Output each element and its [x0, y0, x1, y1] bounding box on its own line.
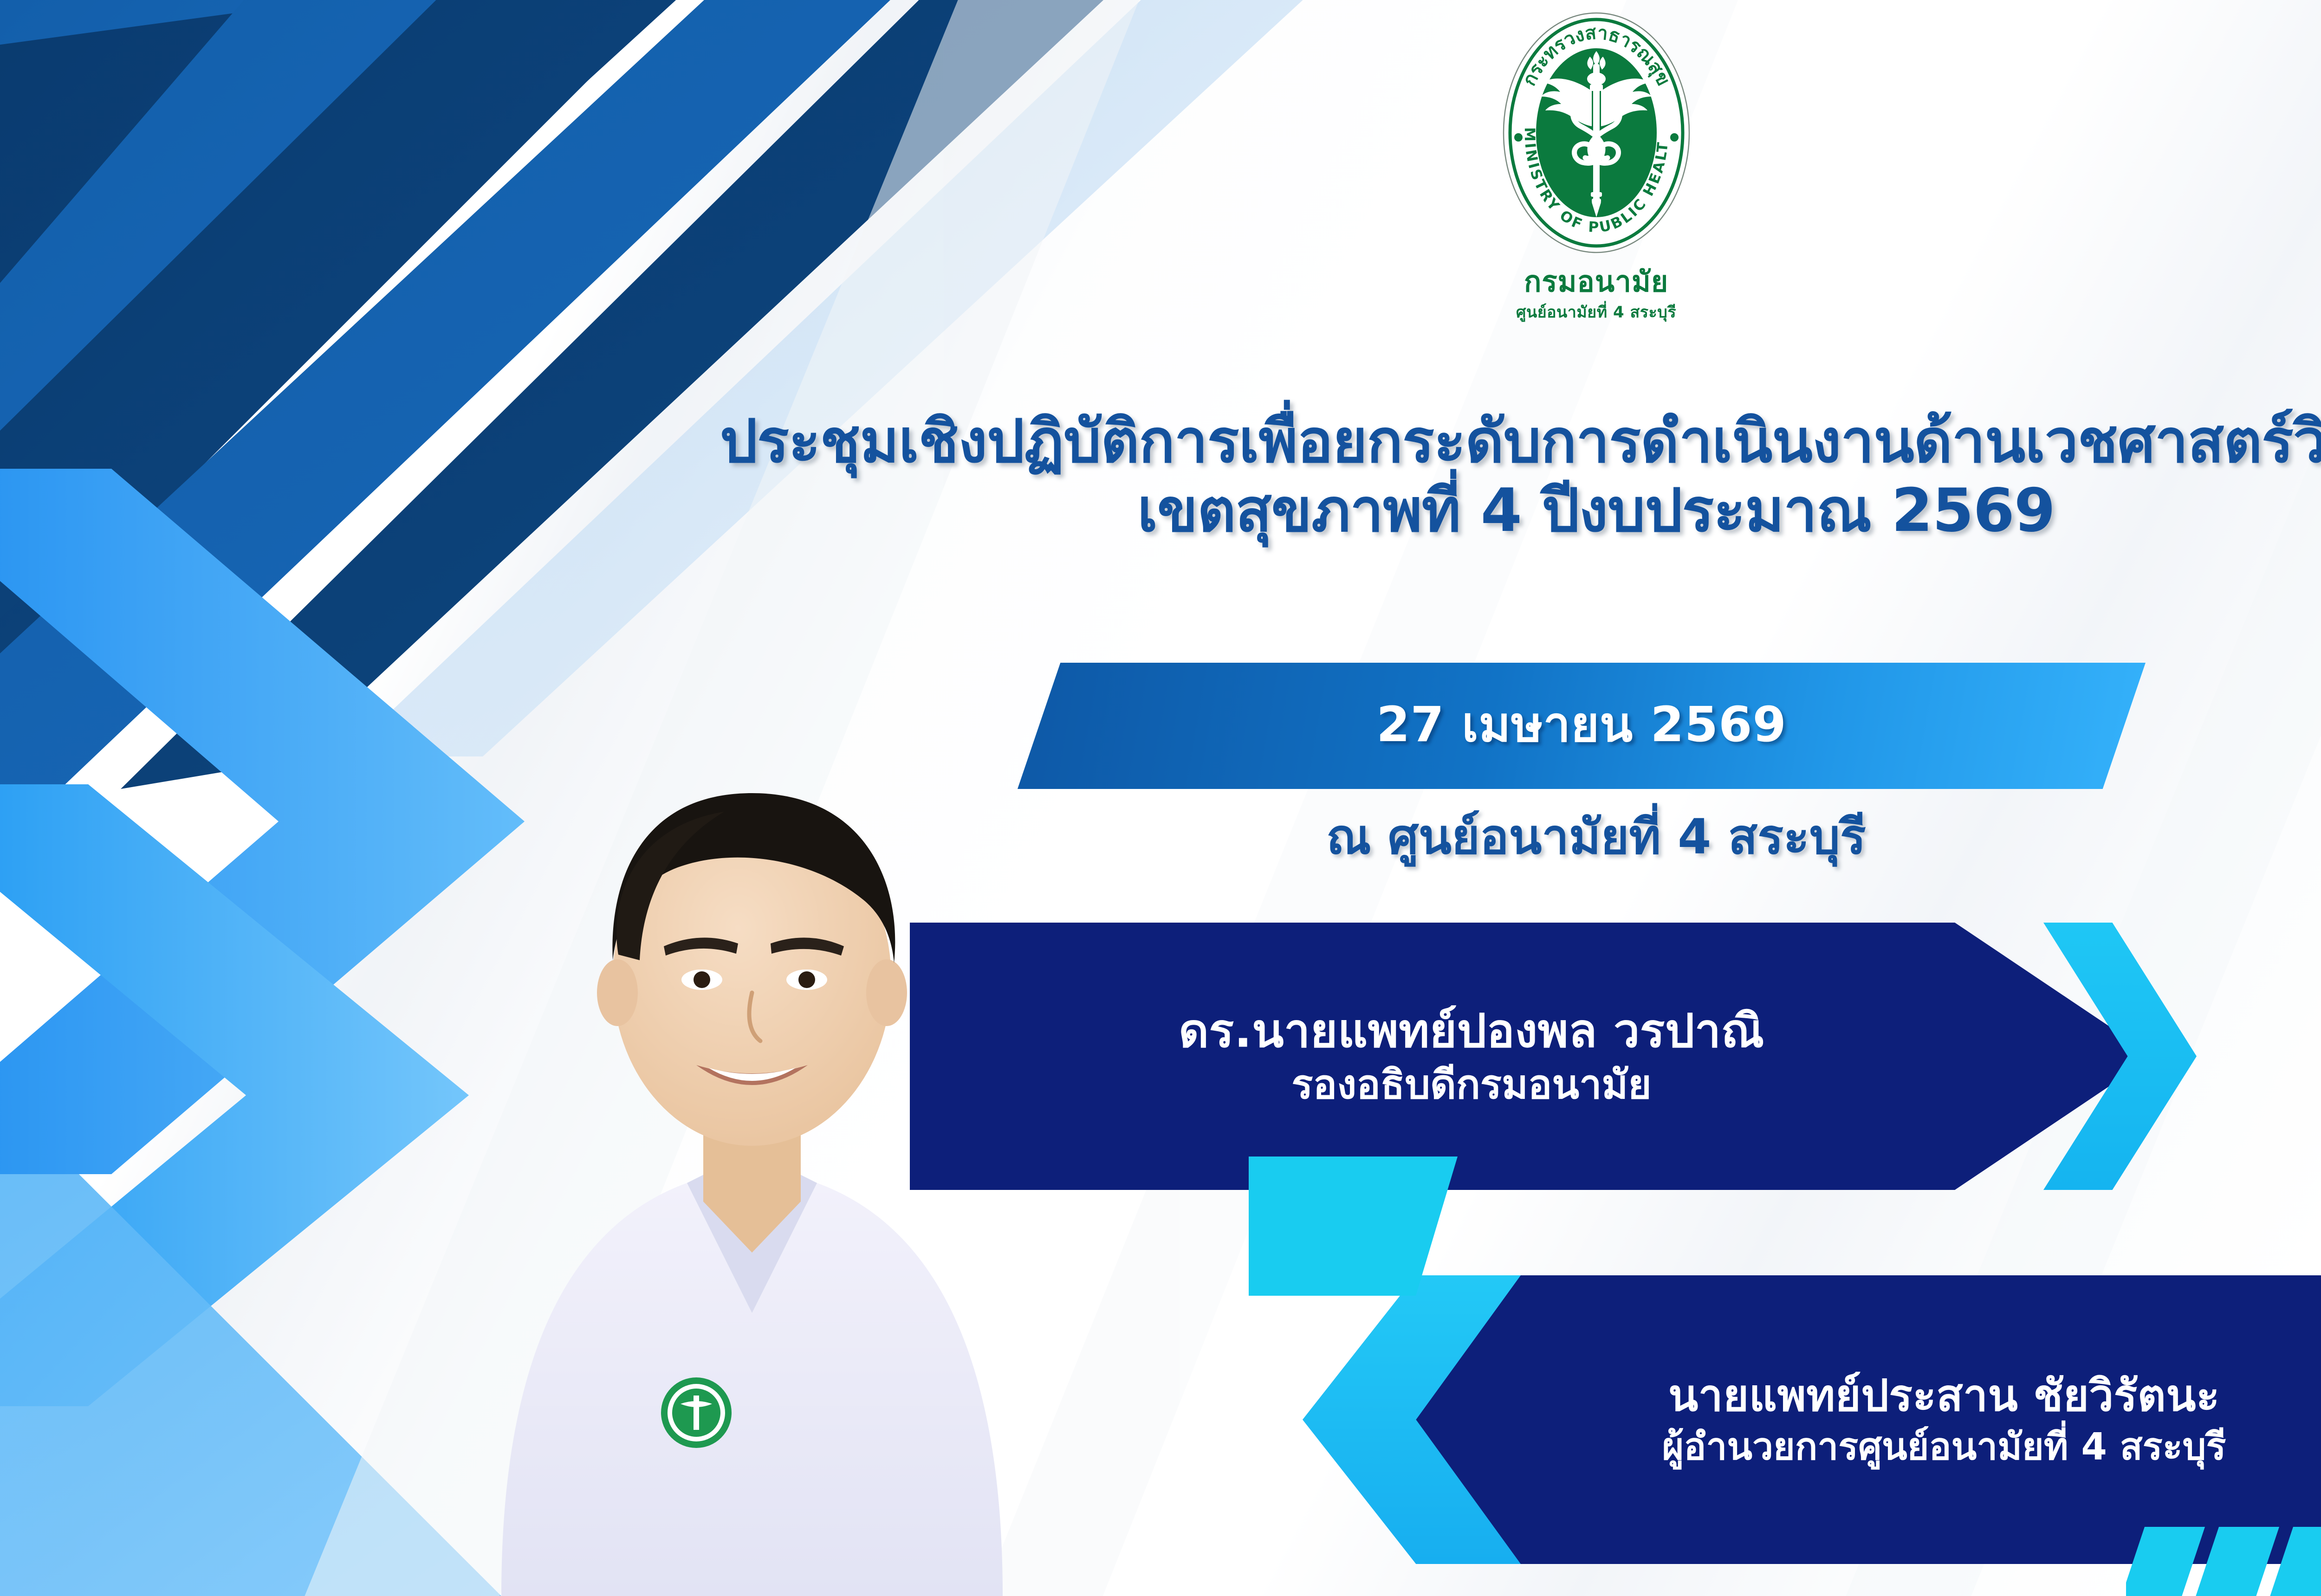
speaker-1-name: ดร.นายแพทย์ปองพล วรปาณิ: [910, 1004, 2033, 1058]
poster-canvas: กระทรวงสาธารณสุข MINISTRY OF PUBLIC HEAL…: [0, 0, 2321, 1596]
page-title: ประชุมเชิงปฏิบัติการเพื่อยกระดับการดำเนิ…: [0, 408, 2321, 475]
cyan-stripes-decor-lower: [2126, 1527, 2321, 1596]
ministry-of-public-health-seal-icon: กระทรวงสาธารณสุข MINISTRY OF PUBLIC HEAL…: [1499, 8, 1694, 268]
speaker-2-banner: นายแพทย์ประสาน ชัยวิรัตนะ ผู้อำนวยการศูน…: [1327, 1275, 2321, 1564]
cyan-stripes-decor-upper: [1249, 1157, 1666, 1296]
page-subtitle: เขตสุขภาพที่ 4 ปีงบประมาณ 2569: [0, 478, 2321, 544]
speaker-1-banner: ดร.นายแพทย์ปองพล วรปาณิ รองอธิบดีกรมอนาม…: [910, 923, 2154, 1190]
speaker-1-role: รองอธิบดีกรมอนามัย: [910, 1061, 2033, 1108]
logo-department-name: กรมอนามัย: [1420, 266, 1773, 297]
speaker-2-text: นายแพทย์ประสาน ชัยวิรัตนะ ผู้อำนวยการศูน…: [1480, 1370, 2321, 1468]
ministry-logo-block: กระทรวงสาธารณสุข MINISTRY OF PUBLIC HEAL…: [1420, 8, 1773, 324]
logo-center-name: ศูนย์อนามัยที่ 4 สระบุรี: [1420, 299, 1773, 324]
speaker-2-name: นายแพทย์ประสาน ชัยวิรัตนะ: [1480, 1370, 2321, 1421]
title-block: ประชุมเชิงปฏิบัติการเพื่อยกระดับการดำเนิ…: [0, 408, 2321, 544]
date-text: 27 เมษายน 2569: [1018, 686, 2146, 762]
speaker-2-role: ผู้อำนวยการศูนย์อนามัยที่ 4 สระบุรี: [1480, 1425, 2321, 1468]
venue-text: ณ ศูนย์อนามัยที่ 4 สระบุรี: [0, 798, 2321, 875]
speaker-1-text: ดร.นายแพทย์ปองพล วรปาณิ รองอธิบดีกรมอนาม…: [910, 1004, 2033, 1108]
date-banner: 27 เมษายน 2569: [1018, 663, 2146, 789]
